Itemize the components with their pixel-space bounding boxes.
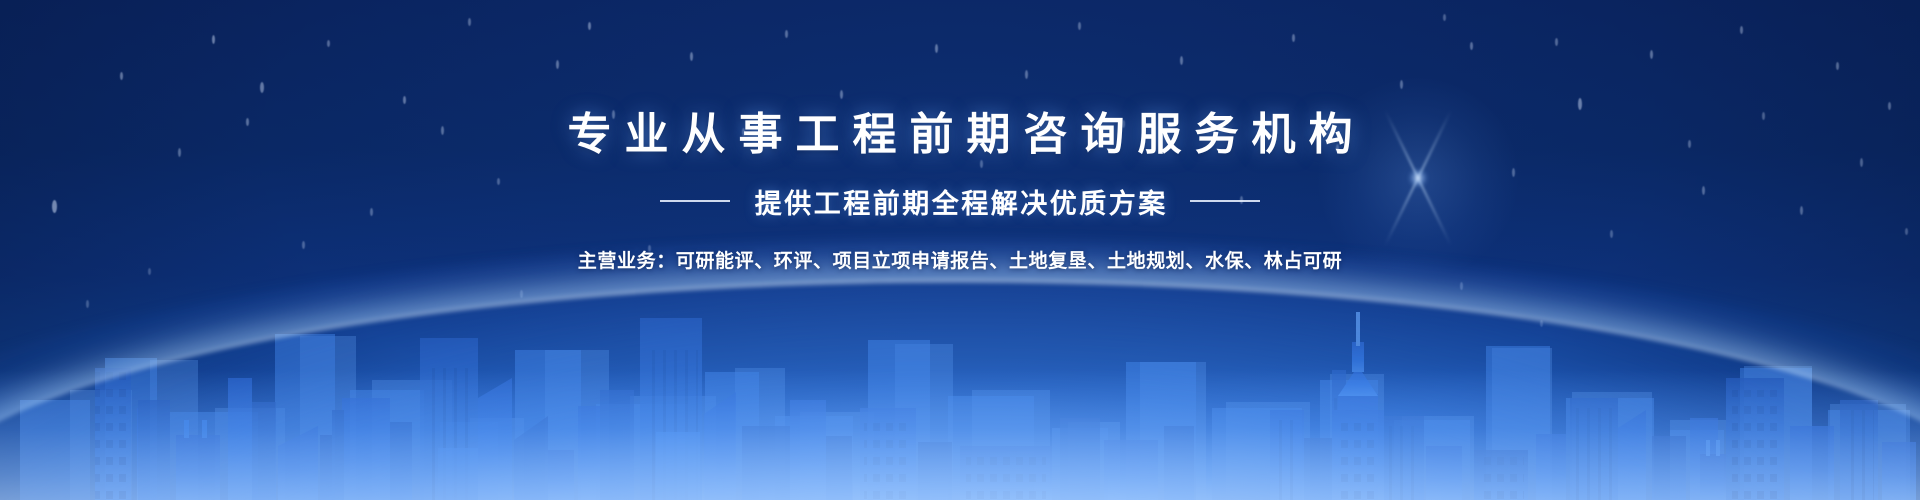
banner-subtitle-row: 提供工程前期全程解决优质方案 bbox=[0, 182, 1920, 221]
banner-title: 专业从事工程前期咨询服务机构 bbox=[0, 108, 1920, 162]
banner-services-line: 主营业务：可研能评、环评、项目立项申请报告、土地复垦、土地规划、水保、林占可研 bbox=[0, 246, 1920, 273]
banner-subtitle: 提供工程前期全程解决优质方案 bbox=[752, 182, 1168, 221]
divider-right-icon bbox=[1190, 200, 1260, 202]
hero-banner: 专业从事工程前期咨询服务机构 提供工程前期全程解决优质方案 主营业务：可研能评、… bbox=[0, 0, 1920, 500]
divider-left-icon bbox=[660, 200, 730, 202]
banner-content: 专业从事工程前期咨询服务机构 提供工程前期全程解决优质方案 主营业务：可研能评、… bbox=[0, 0, 1920, 273]
